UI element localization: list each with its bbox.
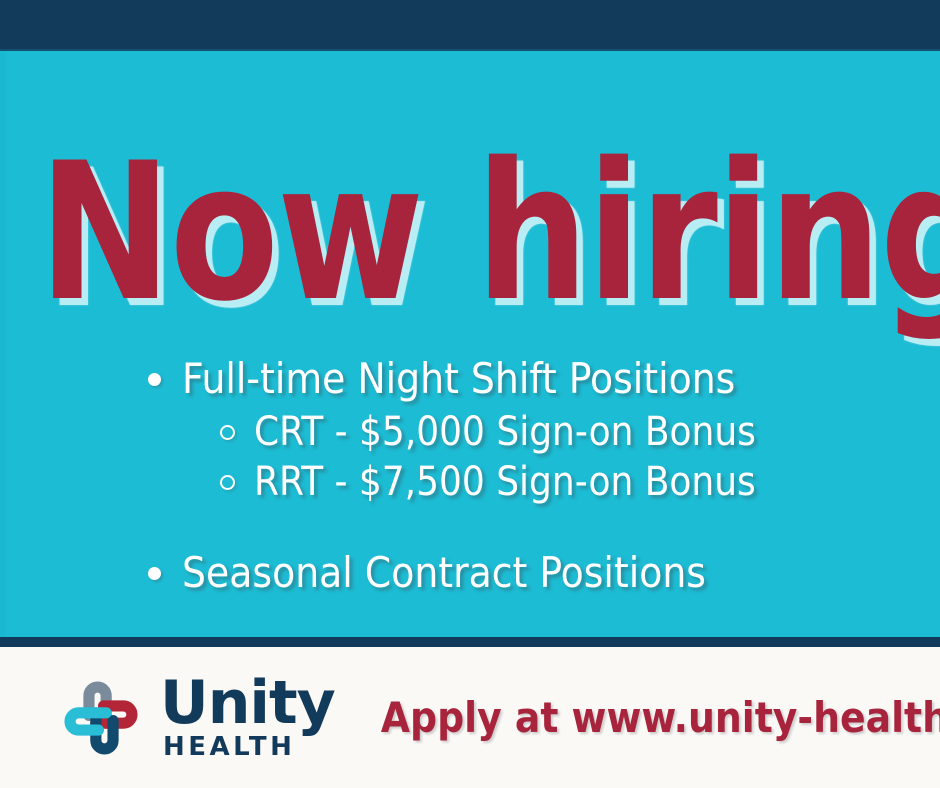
list-item-label: Full-time Night Shift Positions (182, 351, 735, 407)
apply-url-text[interactable]: Apply at www.unity-health.org (381, 693, 940, 742)
page-title: Now hiring! (39, 143, 940, 324)
bullet-ring-icon (220, 457, 254, 507)
footer-bar: Unity HEALTH Apply at www.unity-health.o… (0, 647, 940, 788)
bullet-disc-icon (148, 545, 182, 601)
bullet-ring-icon (220, 407, 254, 457)
main-content-panel: Now hiring! Full-time Night Shift Positi… (0, 51, 940, 637)
unity-health-pinwheel-icon (58, 675, 144, 761)
navy-divider (0, 637, 940, 647)
job-openings-list: Full-time Night Shift Positions CRT - $5… (148, 351, 900, 601)
brand-name-secondary: HEALTH (163, 734, 295, 760)
hiring-poster: Now hiring! Full-time Night Shift Positi… (0, 0, 940, 788)
unity-health-wordmark: Unity HEALTH (160, 675, 335, 761)
unity-health-logo: Unity HEALTH (58, 675, 335, 761)
list-item: RRT - $7,500 Sign-on Bonus (220, 457, 900, 507)
top-navy-band (0, 0, 940, 51)
list-item-label: RRT - $7,500 Sign-on Bonus (254, 457, 756, 507)
brand-name-primary: Unity (160, 675, 335, 733)
list-item-label: Seasonal Contract Positions (182, 545, 706, 601)
bullet-disc-icon (148, 351, 182, 407)
list-spacer (148, 507, 900, 545)
list-item: Seasonal Contract Positions (148, 545, 900, 601)
list-item-label: CRT - $5,000 Sign-on Bonus (254, 407, 756, 457)
list-item: Full-time Night Shift Positions (148, 351, 900, 407)
headline-container: Now hiring! (0, 143, 940, 324)
list-item: CRT - $5,000 Sign-on Bonus (220, 407, 900, 457)
